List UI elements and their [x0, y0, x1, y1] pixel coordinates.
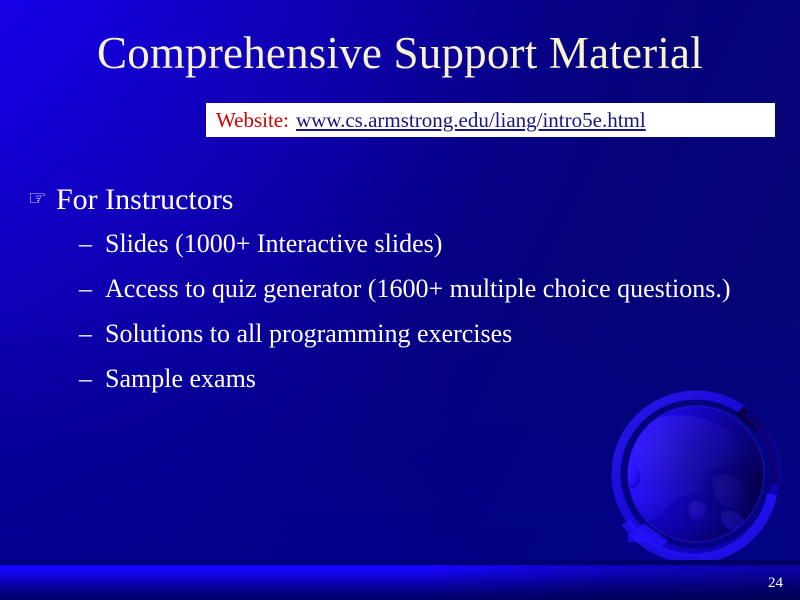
sub-bullet-list: – Slides (1000+ Interactive slides) – Ac… [28, 227, 770, 395]
slide-body: ☞ For Instructors – Slides (1000+ Intera… [28, 182, 770, 407]
website-url-link[interactable]: www.cs.armstrong.edu/liang/intro5e.html [296, 108, 646, 133]
footer-band-shade [430, 560, 800, 600]
bullet-level1: ☞ For Instructors [28, 182, 770, 217]
dash-bullet-icon: – [79, 227, 92, 261]
list-item: – Slides (1000+ Interactive slides) [79, 227, 745, 261]
dash-bullet-icon: – [79, 272, 92, 306]
list-item-label: Access to quiz generator (1600+ multiple… [105, 274, 731, 303]
list-item: – Solutions to all programming exercises [79, 317, 745, 351]
website-label: Website: [216, 108, 289, 133]
website-callout-box: Website: www.cs.armstrong.edu/liang/intr… [206, 103, 775, 137]
list-item-label: Slides (1000+ Interactive slides) [105, 229, 442, 258]
list-item: – Access to quiz generator (1600+ multip… [79, 272, 745, 306]
list-item: – Sample exams [79, 362, 745, 396]
list-item-label: Sample exams [105, 364, 256, 393]
page-title: Comprehensive Support Material [0, 28, 800, 80]
dash-bullet-icon: – [79, 362, 92, 396]
list-item-label: Solutions to all programming exercises [105, 319, 512, 348]
presentation-slide: Comprehensive Support Material Website: … [0, 0, 800, 600]
pointing-hand-icon: ☞ [28, 182, 56, 215]
slide-number: 24 [768, 575, 783, 592]
bullet-level1-label: For Instructors [56, 182, 770, 217]
dash-bullet-icon: – [79, 317, 92, 351]
